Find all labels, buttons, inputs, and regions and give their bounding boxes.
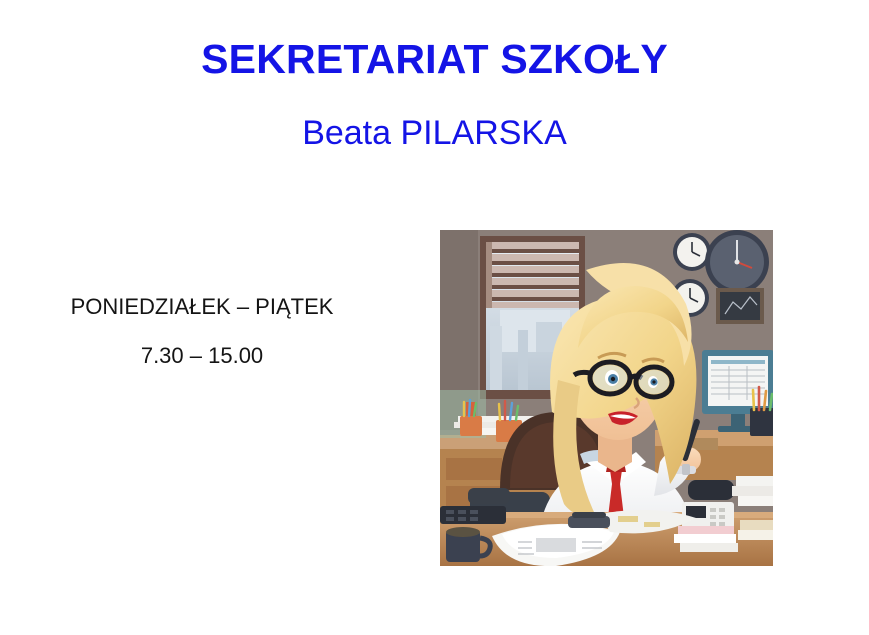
office-hours-time: 7.30 – 15.00	[0, 343, 404, 369]
slide-canvas: SEKRETARIAT SZKOŁY Beata PILARSKA PONIED…	[0, 0, 869, 635]
secretary-at-desk-illustration	[440, 230, 773, 566]
stapler	[568, 512, 610, 528]
page-title: SEKRETARIAT SZKOŁY	[0, 36, 869, 83]
office-hours-days: PONIEDZIAŁEK – PIĄTEK	[0, 294, 404, 320]
illustration-svg	[440, 230, 773, 566]
framed-picture	[716, 288, 764, 324]
page-subtitle: Beata PILARSKA	[0, 114, 869, 153]
wall-clock-large	[705, 230, 769, 294]
desk-telephone-right	[682, 480, 734, 532]
